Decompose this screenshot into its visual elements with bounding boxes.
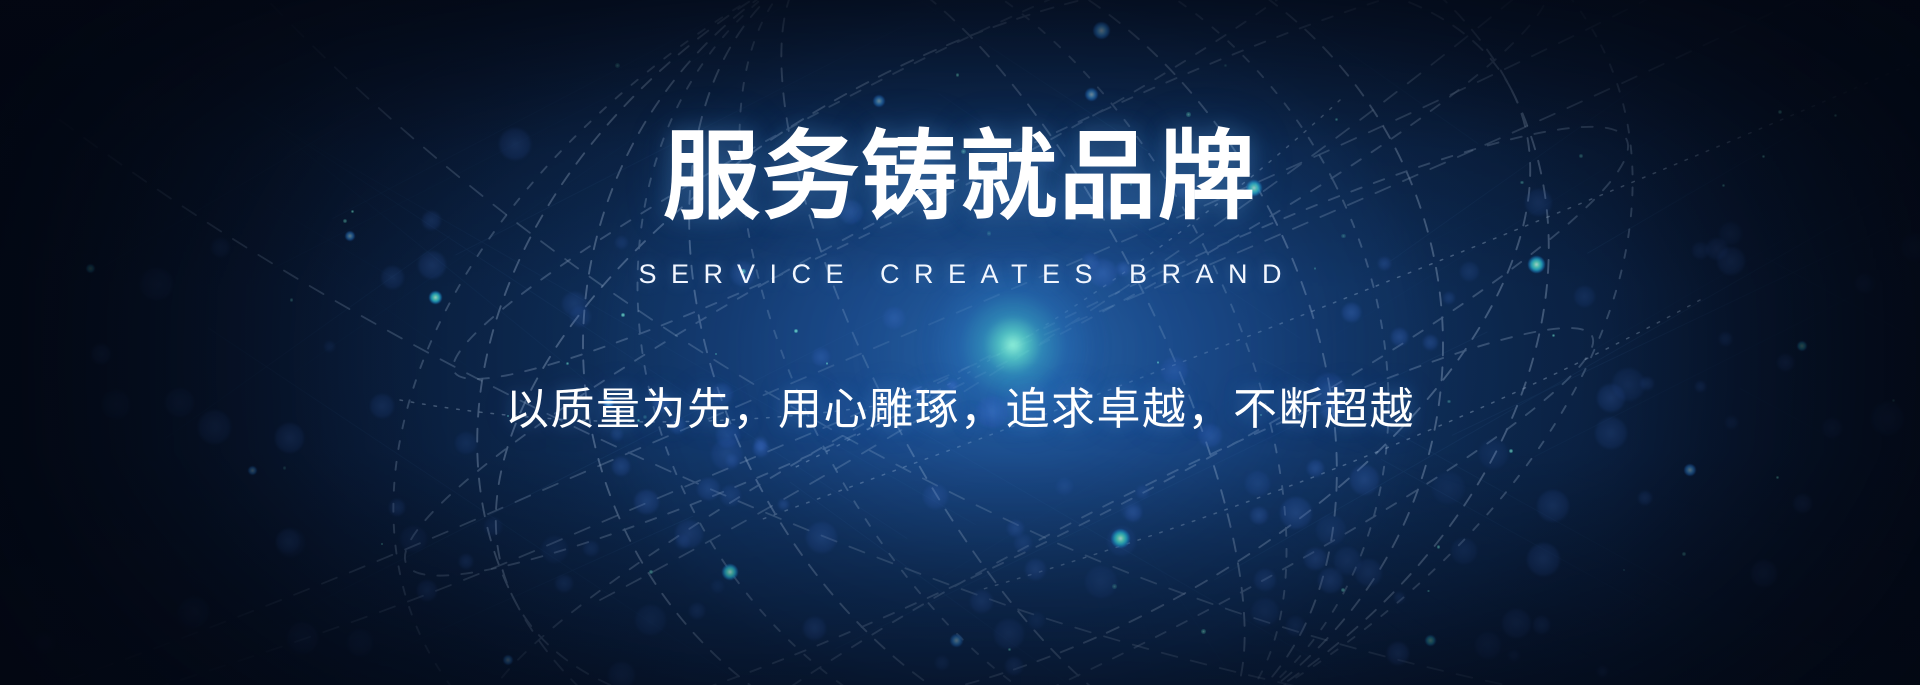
banner-subtitle: SERVICE CREATES BRAND [624, 259, 1296, 290]
banner-title: 服务铸就品牌 [663, 128, 1257, 225]
hero-banner: 服务铸就品牌 SERVICE CREATES BRAND 以质量为先，用心雕琢，… [0, 0, 1920, 685]
banner-content: 服务铸就品牌 SERVICE CREATES BRAND 以质量为先，用心雕琢，… [0, 0, 1920, 685]
banner-tagline: 以质量为先，用心雕琢，追求卓越，不断超越 [505, 373, 1415, 437]
